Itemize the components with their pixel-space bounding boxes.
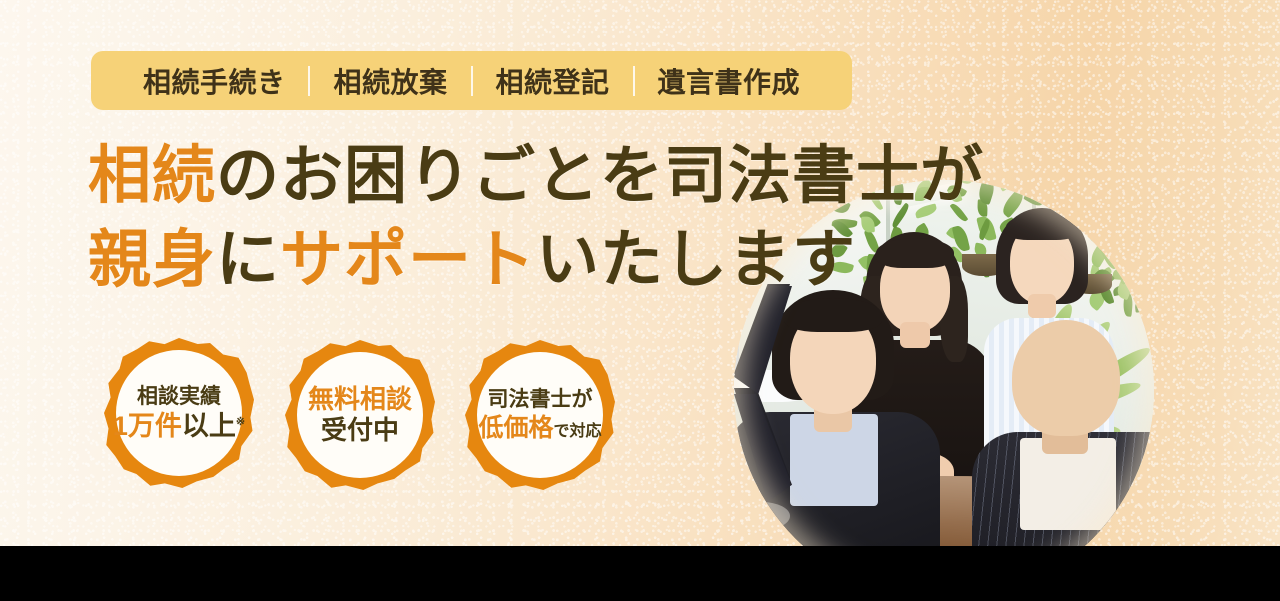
trust-badge-group: 相談実績 1万件以上※ 無料相談 受付中 司法書士が 低価格で対応 <box>104 338 644 490</box>
service-tag-inheritance-registration[interactable]: 相続登記 <box>473 61 633 101</box>
badge-1-count: 1万件 <box>113 411 182 441</box>
service-tag-will-drafting[interactable]: 遺言書作成 <box>635 61 824 101</box>
headline-line-1: 相続のお困りごとを司法書士が <box>88 134 908 218</box>
badge-1-bottom-text: 1万件以上※ <box>113 411 245 441</box>
headline-line-1-rest: のお困りごとを司法書士が <box>216 141 984 211</box>
badge-content: 司法書士が 低価格で対応 <box>477 352 603 478</box>
neck <box>1028 294 1056 318</box>
leaf <box>1068 187 1080 210</box>
headline-line-2-rest: いたします <box>536 225 856 295</box>
badge-free-consultation[interactable]: 無料相談 受付中 <box>285 340 435 490</box>
badge-2-bottom-text: 受付中 <box>321 416 399 445</box>
service-tag-inheritance-renunciation[interactable]: 相続放棄 <box>310 61 470 101</box>
headline-highlight-personal: 親身 <box>88 225 216 295</box>
service-tag-bar: 相続手続き 相続放棄 相続登記 遺言書作成 <box>91 51 852 110</box>
badge-3-top-text: 司法書士が <box>488 388 593 412</box>
badge-3-suffix: で対応 <box>554 423 602 440</box>
badge-3-price-highlight: 低価格 <box>478 414 553 442</box>
hero-banner: 相続手続き 相続放棄 相続登記 遺言書作成 相続のお困りごとを司法書士が 親身に… <box>0 0 1280 546</box>
headline-highlight-inheritance: 相続 <box>88 141 216 211</box>
service-tag-inheritance-procedure[interactable]: 相続手続き <box>120 61 309 101</box>
leaf <box>1135 298 1151 312</box>
badge-content: 無料相談 受付中 <box>297 352 423 478</box>
face <box>1012 320 1120 436</box>
leaf <box>1134 262 1154 277</box>
bangs <box>784 298 882 332</box>
headline-line-2-middle: に <box>216 225 280 295</box>
headline-highlight-support: サポート <box>280 225 536 295</box>
badge-1-top-text: 相談実績 <box>137 385 221 409</box>
badge-3-bottom-text: 低価格で対応 <box>478 414 601 442</box>
neck <box>900 322 930 348</box>
badge-1-suffix: 以上 <box>182 411 236 441</box>
bangs <box>1006 214 1078 240</box>
head-highlight <box>734 502 790 530</box>
leaf <box>1097 236 1112 255</box>
leaf <box>1024 180 1040 185</box>
hero-headline: 相続のお困りごとを司法書士が 親身にサポートいたします <box>88 134 908 303</box>
page-bottom-bar <box>0 546 1280 601</box>
badge-low-price[interactable]: 司法書士が 低価格で対応 <box>465 340 615 490</box>
badge-content: 相談実績 1万件以上※ <box>116 350 242 476</box>
badge-1-footnote-mark: ※ <box>236 416 245 428</box>
headline-line-2: 親身にサポートいたします <box>88 218 908 302</box>
plant-icon <box>1082 216 1154 312</box>
ear <box>734 530 752 546</box>
badge-2-top-text: 無料相談 <box>308 385 412 414</box>
leaf <box>1092 218 1112 237</box>
badge-consultation-record[interactable]: 相談実績 1万件以上※ <box>104 338 254 488</box>
suit-lapel <box>734 394 792 502</box>
